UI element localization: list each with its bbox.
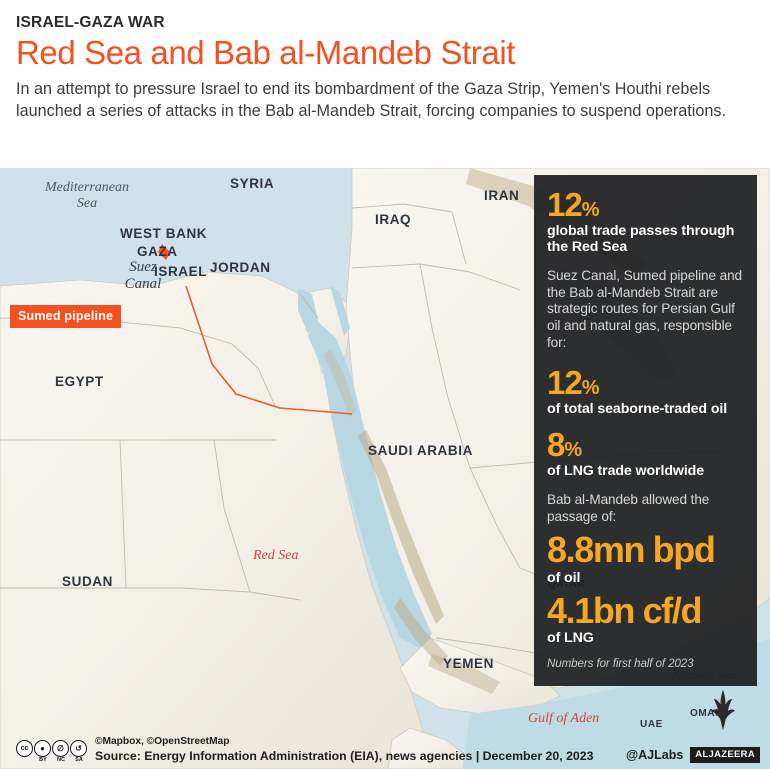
brand-block: @AJLabs ALJAZEERA	[626, 747, 760, 763]
panel-note: Numbers for first half of 2023	[547, 657, 744, 670]
map-attribution: ©Mapbox, ©OpenStreetMap	[95, 736, 593, 748]
label-sudan: SUDAN	[62, 574, 113, 589]
label-red-sea: Red Sea	[253, 548, 298, 564]
creative-commons-license-icon: cc ●BY ∅NC ↺SA	[16, 740, 88, 763]
label-west-bank: WEST BANK	[120, 226, 207, 241]
stat-3-value: 8%	[547, 429, 744, 461]
stat-4-caption: of oil	[547, 570, 744, 586]
stat-4-value: 8.8mn bpd	[547, 533, 744, 567]
stat-2-caption: of total seaborne-traded oil	[547, 401, 744, 417]
stat-3-caption: of LNG trade worldwide	[547, 463, 744, 479]
source-line: Source: Energy Information Administratio…	[95, 749, 593, 763]
label-israel: ISRAEL	[154, 264, 207, 279]
statistics-panel: 12% global trade passes through the Red …	[534, 175, 757, 686]
infographic-root: ISRAEL-GAZA WAR Red Sea and Bab al-Mande…	[0, 0, 770, 769]
sumed-pipeline-tag: Sumed pipeline	[10, 305, 121, 328]
kicker-label: ISRAEL-GAZA WAR	[16, 14, 754, 32]
page-title: Red Sea and Bab al-Mandeb Strait	[16, 36, 754, 71]
header: ISRAEL-GAZA WAR Red Sea and Bab al-Mande…	[0, 0, 770, 168]
stat-1-value: 12%	[547, 189, 744, 221]
panel-lead-in: Bab al-Mandeb allowed the passage of:	[547, 492, 744, 525]
stat-2-value: 12%	[547, 367, 744, 399]
label-mediterranean-sea: MediterraneanSea	[32, 180, 142, 212]
label-iraq: IRAQ	[375, 212, 411, 227]
label-syria: SYRIA	[230, 176, 274, 191]
footer: cc ●BY ∅NC ↺SA ©Mapbox, ©OpenStreetMap S…	[0, 723, 770, 769]
stat-5-caption: of LNG	[547, 630, 744, 646]
label-saudi-arabia: SAUDI ARABIA	[368, 443, 473, 458]
standfirst-text: In an attempt to pressure Israel to end …	[16, 78, 754, 123]
label-egypt: EGYPT	[55, 374, 104, 389]
ajlabs-handle: @AJLabs	[626, 748, 683, 762]
panel-paragraph: Suez Canal, Sumed pipeline and the Bab a…	[547, 268, 744, 351]
stat-1-caption: global trade passes through the Red Sea	[547, 223, 744, 256]
label-iran: IRAN	[484, 188, 519, 203]
stat-5-value: 4.1bn cf/d	[547, 594, 744, 628]
label-jordan: JORDAN	[210, 260, 271, 275]
label-gaza: GAZA	[137, 244, 178, 259]
aljazeera-wordmark: ALJAZEERA	[690, 747, 760, 763]
label-yemen: YEMEN	[443, 656, 494, 671]
